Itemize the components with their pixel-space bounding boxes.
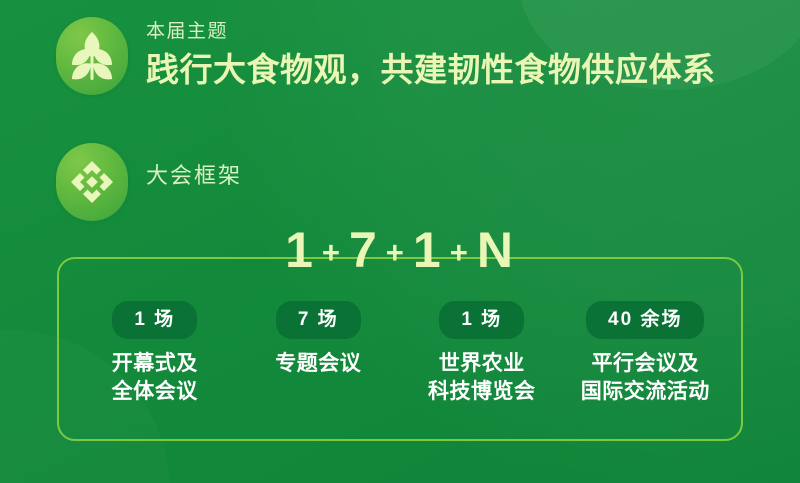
framework-section-header: 大会框架: [56, 143, 242, 221]
framework-column: 7 场 专题会议: [237, 301, 401, 378]
column-count-badge: 1 场: [439, 301, 524, 339]
formula-operator-2: +: [381, 235, 411, 270]
column-label: 世界农业 科技博览会: [428, 350, 536, 405]
formula-part-1: 1: [283, 222, 317, 278]
framework-card: 1+7+1+N 1 场 开幕式及 全体会议 7 场 专题会议 1 场 世界农业 …: [57, 257, 743, 441]
theme-text-block: 本届主题 践行大食物观，共建韧性食物供应体系: [146, 17, 716, 90]
formula-part-4: N: [475, 222, 517, 278]
theme-section: 本届主题 践行大食物观，共建韧性食物供应体系: [56, 17, 716, 95]
theme-eyebrow: 本届主题: [146, 20, 716, 44]
poster-canvas: 本届主题 践行大食物观，共建韧性食物供应体系: [0, 0, 800, 483]
framework-text-block: 大会框架: [146, 143, 242, 190]
formula-operator-3: +: [445, 235, 475, 270]
theme-headline: 践行大食物观，共建韧性食物供应体系: [146, 51, 716, 90]
formula-part-3: 1: [411, 222, 445, 278]
column-count-badge: 40 余场: [586, 301, 704, 339]
column-label: 开幕式及 全体会议: [112, 350, 198, 405]
formula-operator-1: +: [317, 235, 347, 270]
formula-part-2: 7: [347, 222, 381, 278]
framework-column: 1 场 开幕式及 全体会议: [73, 301, 237, 405]
wheat-icon: [56, 17, 128, 95]
framework-column: 1 场 世界农业 科技博览会: [400, 301, 564, 405]
column-label: 专题会议: [275, 350, 361, 378]
column-count-badge: 1 场: [112, 301, 197, 339]
framework-eyebrow: 大会框架: [146, 146, 242, 190]
framework-column: 40 余场 平行会议及 国际交流活动: [564, 301, 728, 405]
framework-formula: 1+7+1+N: [59, 225, 741, 275]
diamond-cluster-icon: [56, 143, 128, 221]
framework-columns: 1 场 开幕式及 全体会议 7 场 专题会议 1 场 世界农业 科技博览会 40…: [59, 301, 741, 405]
column-label: 平行会议及 国际交流活动: [581, 350, 710, 405]
column-count-badge: 7 场: [276, 301, 361, 339]
